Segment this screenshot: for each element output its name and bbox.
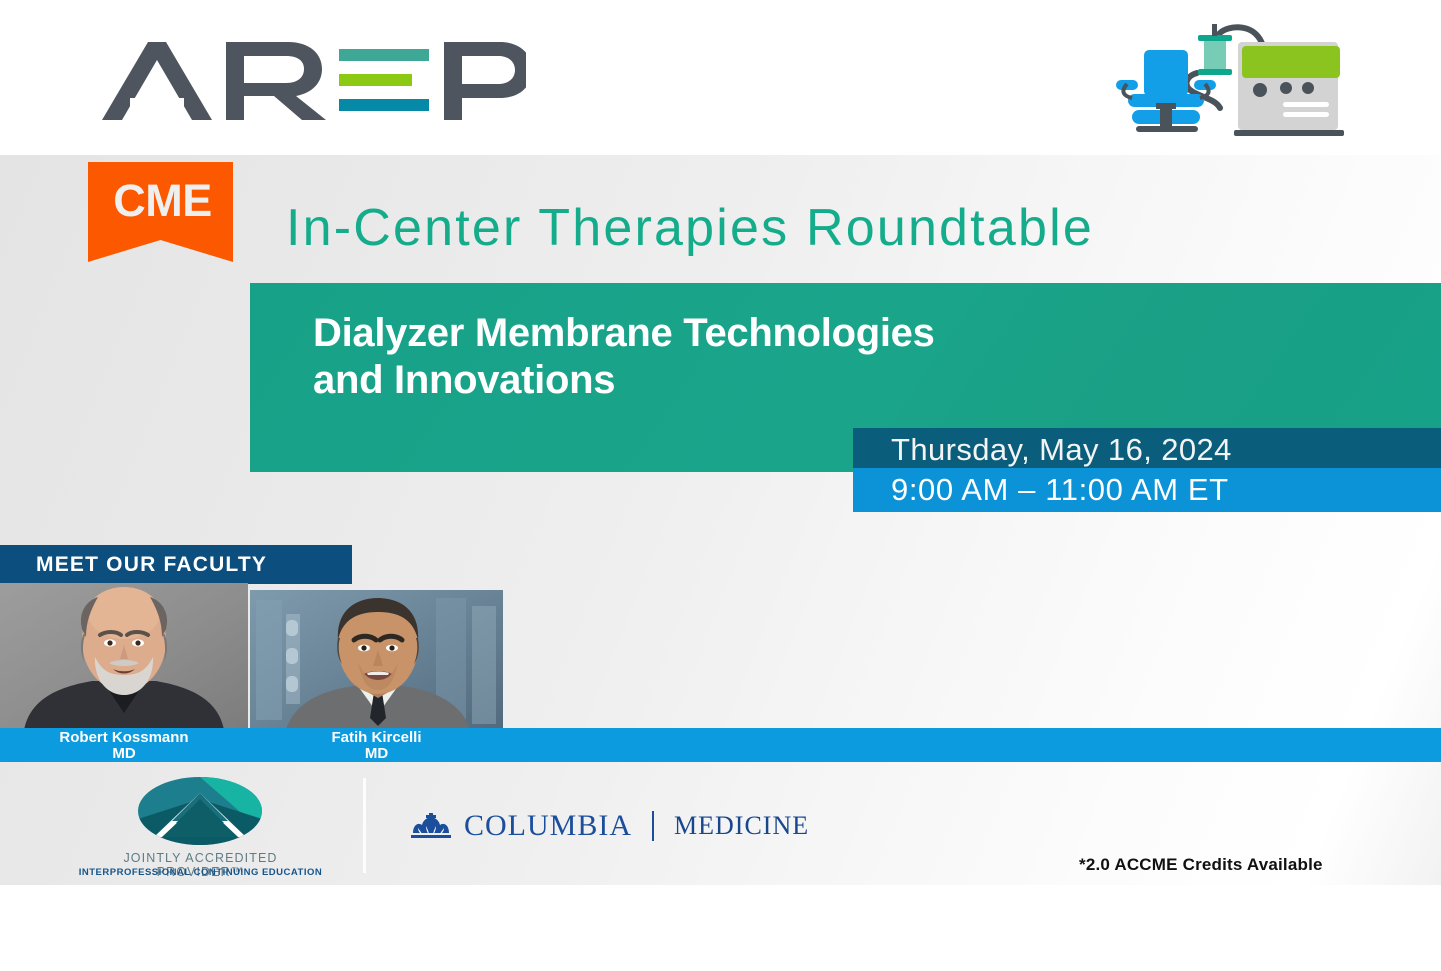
subtitle-line-1: Dialyzer Membrane Technologies (313, 310, 935, 357)
faculty-names-band: Robert Kossmann MD Fatih Kircelli MD (0, 728, 1441, 762)
faculty-section-header: MEET OUR FACULTY (0, 545, 352, 584)
faculty-credential: MD (250, 746, 503, 762)
faculty-name-block: Fatih Kircelli MD (250, 730, 503, 762)
columbia-crown-icon (410, 813, 452, 839)
columbia-divider (652, 811, 654, 841)
event-date-band: Thursday, May 16, 2024 (853, 428, 1441, 468)
accme-credits-note: *2.0 ACCME Credits Available (1079, 855, 1323, 875)
faculty-section-label: MEET OUR FACULTY (36, 553, 267, 577)
subtitle-text: Dialyzer Membrane Technologies and Innov… (313, 310, 935, 404)
event-date: Thursday, May 16, 2024 (891, 432, 1232, 468)
flyer-header (0, 0, 1441, 155)
page-title: In-Center Therapies Roundtable (286, 198, 1406, 258)
medicine-wordmark: MEDICINE (674, 811, 809, 841)
faculty-photo-robert-kossmann (0, 583, 248, 730)
flyer-canvas: CME In-Center Therapies Roundtable Dialy… (0, 0, 1441, 971)
faculty-name-block: Robert Kossmann MD (0, 730, 248, 762)
footer-divider (363, 778, 366, 873)
event-time: 9:00 AM – 11:00 AM ET (891, 472, 1229, 508)
faculty-name: Fatih Kircelli (250, 730, 503, 746)
arep-logo (96, 36, 526, 126)
subtitle-line-2: and Innovations (313, 357, 935, 404)
jointly-accredited-provider-logo: . JOINTLY ACCREDITED PROVIDER™ INTERPROF… (78, 775, 323, 883)
dialysis-chair-machine-icon (1098, 14, 1368, 144)
columbia-wordmark: COLUMBIA (464, 809, 632, 843)
event-time-band: 9:00 AM – 11:00 AM ET (853, 468, 1441, 512)
faculty-credential: MD (0, 746, 248, 762)
faculty-photo-fatih-kircelli (250, 590, 503, 730)
faculty-name: Robert Kossmann (0, 730, 248, 746)
accreditor-line-2: INTERPROFESSIONAL CONTINUING EDUCATION (78, 867, 323, 878)
columbia-medicine-logo: COLUMBIA MEDICINE (410, 806, 809, 846)
cme-badge-label: CME (113, 178, 212, 223)
